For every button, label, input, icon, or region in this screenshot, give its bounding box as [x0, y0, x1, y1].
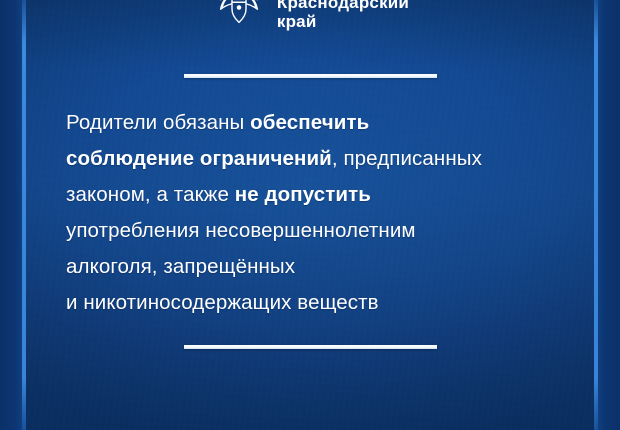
- divider-top: [184, 74, 437, 78]
- message-run: Родители обязаны: [66, 111, 250, 134]
- message-line: употребления несовершеннолетним: [66, 213, 566, 249]
- message-emphasis: не допустить: [235, 183, 371, 206]
- message-line: соблюдение ограничений, предписанных: [66, 141, 566, 177]
- brand-line-2: край: [277, 13, 409, 30]
- message-run: законом, а также: [66, 183, 235, 206]
- message-run: , предписанных: [332, 147, 482, 170]
- message-run: и никотиносодержащих веществ: [66, 291, 379, 314]
- message-text-block: Родители обязаны обеспечитьсоблюдение ог…: [66, 105, 566, 321]
- krasnodar-coat-of-arms-icon: [211, 0, 267, 32]
- message-emphasis: соблюдение ограничений: [66, 147, 332, 170]
- message-line: законом, а также не допустить: [66, 177, 566, 213]
- message-line: и никотиносодержащих веществ: [66, 285, 566, 321]
- message-emphasis: обеспечить: [250, 111, 369, 134]
- brand-logo: Краснодарский край: [0, 0, 620, 32]
- divider-bottom: [184, 345, 437, 349]
- brand-wordmark: Краснодарский край: [277, 0, 409, 32]
- message-line: алкоголя, запрещённых: [66, 249, 566, 285]
- message-line: Родители обязаны обеспечить: [66, 105, 566, 141]
- brand-line-1: Краснодарский: [277, 0, 409, 11]
- right-accent-stripe: [594, 0, 598, 430]
- message-run: употребления несовершеннолетним: [66, 219, 416, 242]
- message-run: алкоголя, запрещённых: [66, 255, 295, 278]
- poster-card: Краснодарский край Родители обязаны обес…: [0, 0, 620, 430]
- left-accent-stripe: [22, 0, 26, 430]
